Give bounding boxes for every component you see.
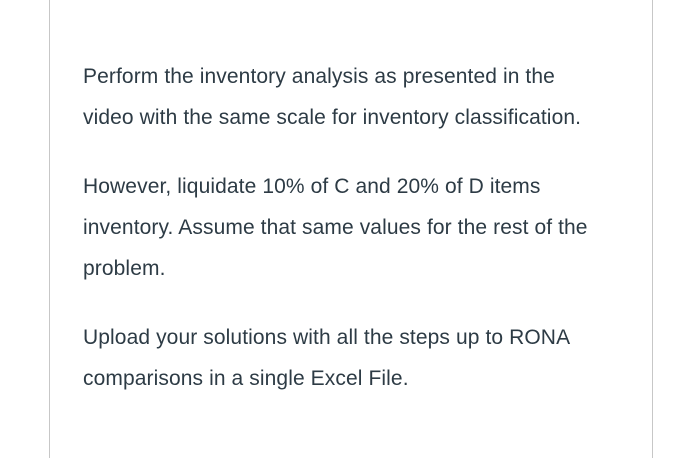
assignment-description-screen: Perform the inventory analysis as presen… — [0, 0, 700, 458]
description-paragraph-3: Upload your solutions with all the steps… — [83, 317, 608, 399]
assignment-description-text: Perform the inventory analysis as presen… — [83, 56, 630, 399]
right-column-divider — [652, 0, 653, 458]
description-content-column: Perform the inventory analysis as presen… — [50, 0, 652, 458]
description-paragraph-2: However, liquidate 10% of C and 20% of D… — [83, 166, 608, 289]
description-paragraph-1: Perform the inventory analysis as presen… — [83, 56, 608, 138]
